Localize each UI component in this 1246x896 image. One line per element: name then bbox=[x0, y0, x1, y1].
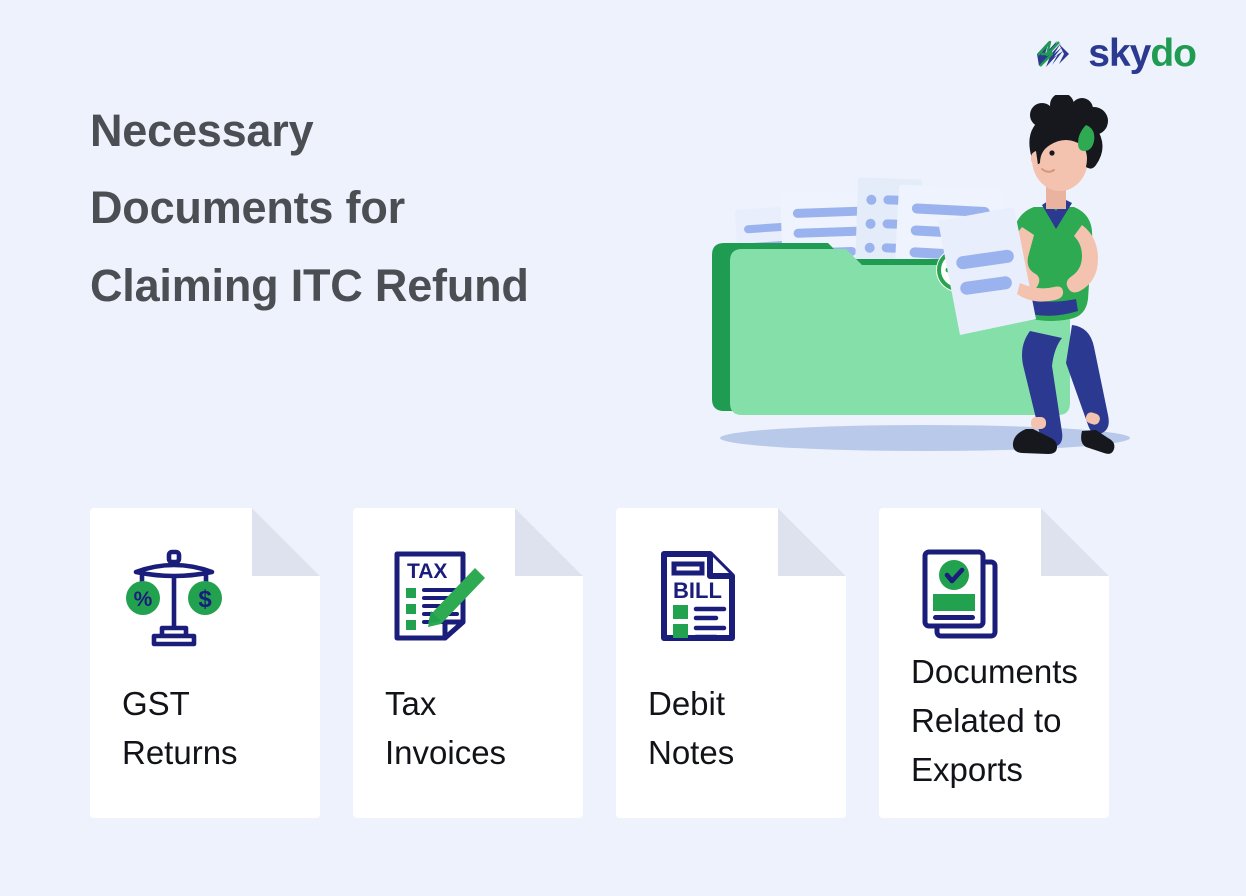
page-title-line-1: Necessary bbox=[90, 92, 650, 169]
card-gst-returns[interactable]: % $ GST Returns bbox=[90, 508, 320, 818]
balance-scale-tax-icon: % $ bbox=[122, 544, 226, 648]
verified-documents-stack-icon bbox=[911, 544, 1015, 648]
page-title-line-3: Claiming ITC Refund bbox=[90, 247, 650, 324]
logo-text-sky: sky bbox=[1088, 34, 1150, 73]
page-fold-corner bbox=[515, 508, 583, 576]
document-cards-row: % $ GST Returns TAX bbox=[90, 508, 1156, 818]
svg-text:%: % bbox=[134, 588, 153, 611]
page-title: Necessary Documents for Claiming ITC Ref… bbox=[90, 92, 650, 324]
card-label: GST Returns bbox=[122, 680, 306, 778]
tax-invoice-pencil-icon: TAX bbox=[385, 544, 489, 648]
hero-illustration bbox=[690, 95, 1160, 465]
card-label: Tax Invoices bbox=[385, 680, 569, 778]
card-label: Debit Notes bbox=[648, 680, 832, 778]
skydo-logo: skydo bbox=[1035, 34, 1196, 73]
page-title-line-2: Documents for bbox=[90, 169, 650, 246]
svg-text:BILL: BILL bbox=[673, 578, 722, 603]
card-debit-notes[interactable]: BILL Debit Notes bbox=[616, 508, 846, 818]
card-label: Documents Related to Exports bbox=[911, 648, 1095, 794]
ground-shadow bbox=[720, 425, 1130, 451]
page-fold-corner bbox=[1041, 508, 1109, 576]
skydo-chevron-icon bbox=[1035, 35, 1079, 73]
svg-text:$: $ bbox=[198, 586, 212, 613]
svg-text:TAX: TAX bbox=[407, 560, 447, 583]
skydo-wordmark: skydo bbox=[1088, 34, 1196, 73]
page-fold-corner bbox=[778, 508, 846, 576]
logo-text-do: do bbox=[1150, 34, 1196, 73]
card-documents-related-to-exports[interactable]: Documents Related to Exports bbox=[879, 508, 1109, 818]
card-tax-invoices[interactable]: TAX Tax Invoices bbox=[353, 508, 583, 818]
bill-document-icon: BILL bbox=[648, 544, 752, 648]
page-fold-corner bbox=[252, 508, 320, 576]
